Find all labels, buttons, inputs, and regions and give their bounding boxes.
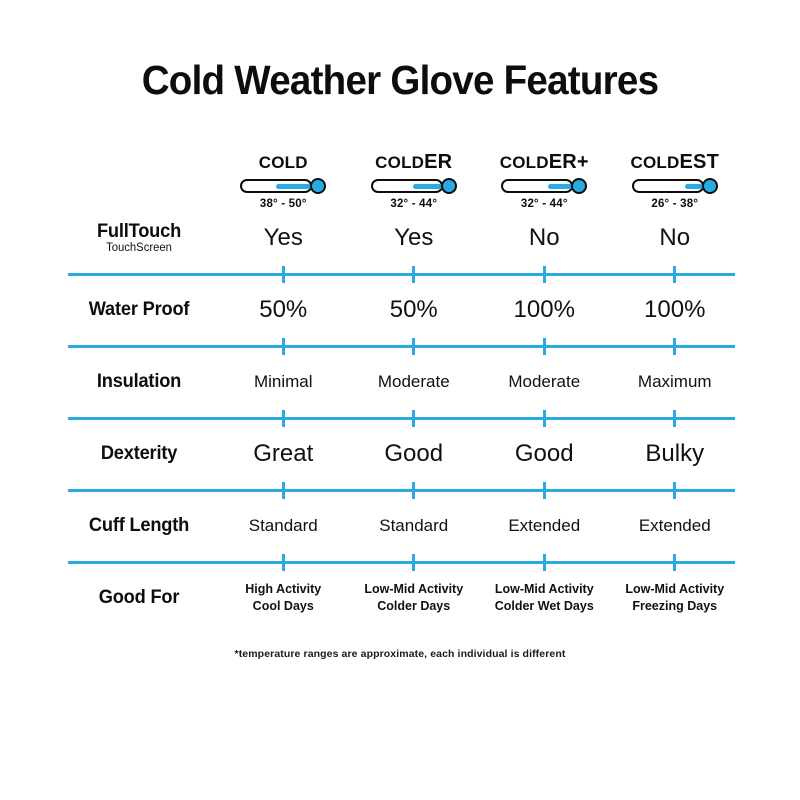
thermometer-bulb: [310, 178, 326, 194]
thermometer-icon: [501, 178, 587, 194]
thermometer-icon: [371, 178, 457, 194]
column-header-colder: COLDER32° - 44°: [349, 152, 480, 210]
tier-temperature-range: 26° - 38°: [651, 198, 698, 210]
thermometer-fill: [276, 184, 315, 189]
thermometer-bulb: [702, 178, 718, 194]
divider-line: [68, 345, 735, 348]
thermometer-fill: [413, 184, 445, 189]
cell-dexterity-colder-plus: Good: [479, 440, 610, 468]
cell-cuff-length-coldest: Extended: [610, 516, 741, 536]
divider-tick-colder: [412, 482, 415, 499]
thermometer-bulb: [441, 178, 457, 194]
cell-insulation-colder: Moderate: [349, 372, 480, 392]
tier-name-suffix: ER+: [549, 151, 589, 173]
page-title: Cold Weather Glove Features: [24, 0, 776, 104]
feature-label-text: Water Proof: [89, 299, 190, 320]
cell-good-for-colder-plus: Low-Mid ActivityColder Wet Days: [479, 581, 610, 615]
tier-name-base: COLD: [631, 153, 680, 172]
cell-dexterity-cold: Great: [218, 440, 349, 468]
divider-tick-colder: [412, 266, 415, 283]
feature-row-water-proof: Water Proof50%50%100%100%: [60, 282, 740, 338]
cell-dexterity-coldest: Bulky: [610, 440, 741, 468]
cell-insulation-colder-plus: Moderate: [479, 372, 610, 392]
divider-tick-coldest: [673, 410, 676, 427]
tier-name: COLDER+: [500, 152, 589, 172]
cell-fulltouch-colder: Yes: [349, 224, 480, 252]
divider-tick-coldest: [673, 482, 676, 499]
cell-fulltouch-colder-plus: No: [479, 224, 610, 252]
divider-tick-colder-plus: [543, 410, 546, 427]
feature-row-fulltouch: FullTouchTouchScreenYesYesNoNo: [60, 210, 740, 266]
cell-cuff-length-colder: Standard: [349, 516, 480, 536]
cell-water-proof-colder: 50%: [349, 296, 480, 324]
divider-tick-colder: [412, 410, 415, 427]
tier-name: COLDEST: [631, 152, 719, 172]
footnote: *temperature ranges are approximate, eac…: [60, 648, 740, 660]
cell-line: Colder Wet Days: [479, 598, 610, 615]
cell-cuff-length-colder-plus: Extended: [479, 516, 610, 536]
feature-rows-host: FullTouchTouchScreenYesYesNoNoWater Proo…: [60, 210, 740, 626]
divider-tick-cold: [282, 554, 285, 571]
tier-name-suffix: EST: [679, 151, 719, 173]
cell-water-proof-colder-plus: 100%: [479, 296, 610, 324]
row-divider: [60, 338, 740, 354]
cell-line: Low-Mid Activity: [625, 582, 724, 596]
cell-insulation-cold: Minimal: [218, 372, 349, 392]
feature-label-text: Dexterity: [101, 443, 177, 464]
cell-fulltouch-coldest: No: [610, 224, 741, 252]
feature-row-cuff-length: Cuff LengthStandardStandardExtendedExten…: [60, 498, 740, 554]
cell-insulation-coldest: Maximum: [610, 372, 741, 392]
comparison-table-page: Cold Weather Glove Features COLD38° - 50…: [0, 0, 800, 800]
tier-temperature-range: 32° - 44°: [521, 198, 568, 210]
feature-label-text: FullTouch: [97, 221, 181, 242]
cell-line: Low-Mid Activity: [495, 582, 594, 596]
tier-name-suffix: ER: [424, 151, 452, 173]
tier-name-base: COLD: [375, 153, 424, 172]
feature-label-water-proof: Water Proof: [63, 300, 215, 320]
divider-line: [68, 489, 735, 492]
tier-name-base: COLD: [500, 153, 549, 172]
cell-line: Low-Mid Activity: [364, 582, 463, 596]
cell-line: High Activity: [245, 582, 321, 596]
divider-tick-cold: [282, 338, 285, 355]
tier-block: COLDEST26° - 38°: [610, 152, 741, 210]
divider-line: [68, 273, 735, 276]
divider-tick-cold: [282, 266, 285, 283]
cell-water-proof-cold: 50%: [218, 296, 349, 324]
tier-block: COLDER32° - 44°: [349, 152, 480, 210]
thermometer-bulb: [571, 178, 587, 194]
cell-good-for-colder: Low-Mid ActivityColder Days: [349, 581, 480, 615]
divider-tick-coldest: [673, 266, 676, 283]
cell-line: Cool Days: [218, 598, 349, 615]
cell-good-for-cold: High ActivityCool Days: [218, 581, 349, 615]
cell-line: Colder Days: [349, 598, 480, 615]
feature-row-dexterity: DexterityGreatGoodGoodBulky: [60, 426, 740, 482]
feature-row-good-for: Good ForHigh ActivityCool DaysLow-Mid Ac…: [60, 570, 740, 626]
feature-label-text: Cuff Length: [89, 515, 189, 536]
cell-water-proof-coldest: 100%: [610, 296, 741, 324]
tier-name-base: COLD: [259, 153, 308, 172]
cell-cuff-length-cold: Standard: [218, 516, 349, 536]
column-header-colder-plus: COLDER+32° - 44°: [479, 152, 610, 210]
feature-label-cuff-length: Cuff Length: [63, 516, 215, 536]
divider-tick-colder-plus: [543, 338, 546, 355]
feature-label-dexterity: Dexterity: [63, 444, 215, 464]
feature-label-text: Insulation: [97, 371, 181, 392]
divider-tick-colder: [412, 338, 415, 355]
feature-label-insulation: Insulation: [63, 372, 215, 392]
tier-block: COLD38° - 50°: [218, 153, 349, 210]
cell-dexterity-colder: Good: [349, 440, 480, 468]
feature-row-insulation: InsulationMinimalModerateModerateMaximum: [60, 354, 740, 410]
divider-tick-colder-plus: [543, 554, 546, 571]
feature-comparison-grid: COLD38° - 50°COLDER32° - 44°COLDER+32° -…: [60, 132, 740, 660]
thermometer-icon: [240, 178, 326, 194]
cell-good-for-coldest: Low-Mid ActivityFreezing Days: [610, 581, 741, 615]
tier-block: COLDER+32° - 44°: [479, 152, 610, 210]
column-header-row: COLD38° - 50°COLDER32° - 44°COLDER+32° -…: [60, 132, 740, 210]
divider-tick-colder: [412, 554, 415, 571]
divider-tick-coldest: [673, 554, 676, 571]
divider-tick-cold: [282, 482, 285, 499]
cell-fulltouch-cold: Yes: [218, 224, 349, 252]
divider-line: [68, 417, 735, 420]
feature-label-fulltouch: FullTouchTouchScreen: [63, 222, 215, 255]
cell-line: Freezing Days: [610, 598, 741, 615]
tier-name: COLD: [259, 153, 308, 172]
row-divider: [60, 266, 740, 282]
feature-label-text: Good For: [99, 587, 180, 608]
thermometer-icon: [632, 178, 718, 194]
tier-temperature-range: 32° - 44°: [390, 198, 437, 210]
divider-tick-colder-plus: [543, 482, 546, 499]
feature-sublabel-text: TouchScreen: [62, 242, 217, 254]
row-divider: [60, 482, 740, 498]
row-divider: [60, 410, 740, 426]
divider-line: [68, 561, 735, 564]
feature-label-good-for: Good For: [63, 588, 215, 608]
column-header-cold: COLD38° - 50°: [218, 153, 349, 210]
divider-tick-colder-plus: [543, 266, 546, 283]
divider-tick-cold: [282, 410, 285, 427]
tier-name: COLDER: [375, 152, 452, 172]
divider-tick-coldest: [673, 338, 676, 355]
column-header-coldest: COLDEST26° - 38°: [610, 152, 741, 210]
tier-temperature-range: 38° - 50°: [260, 198, 307, 210]
row-divider: [60, 554, 740, 570]
